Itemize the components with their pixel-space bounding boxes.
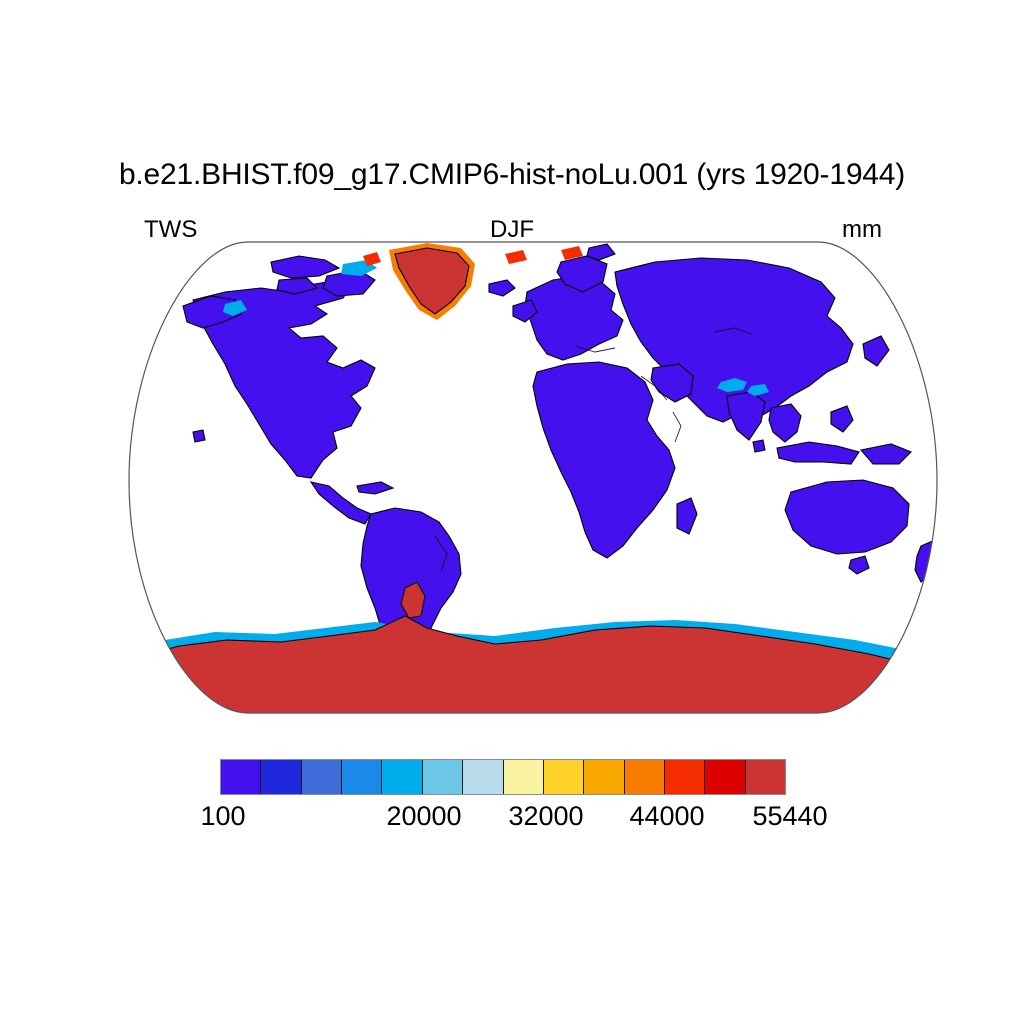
world-map-svg [75,236,955,726]
colorbar-cell-7[interactable] [463,760,503,794]
colorbar-tick-labels: 10020000320004400055440 [0,800,1006,840]
page-title: b.e21.BHIST.f09_g17.CMIP6-hist-noLu.001 … [0,158,1024,192]
colorbar-cell-5[interactable] [382,760,422,794]
colorbar-cell-6[interactable] [423,760,463,794]
colorbar-cell-13[interactable] [705,760,745,794]
climate-map-figure: b.e21.BHIST.f09_g17.CMIP6-hist-noLu.001 … [0,0,1024,1024]
colorbar-cell-4[interactable] [342,760,382,794]
colorbar-cell-3[interactable] [302,760,342,794]
colorbar-panel: 10020000320004400055440 [220,759,790,849]
colorbar-cell-2[interactable] [261,760,301,794]
colorbar[interactable] [220,759,786,795]
colorbar-tick-label-3: 44000 [629,800,704,832]
colorbar-cell-12[interactable] [665,760,705,794]
colorbar-tick-label-4: 55440 [752,800,827,832]
colorbar-cell-9[interactable] [544,760,584,794]
colorbar-cell-11[interactable] [625,760,665,794]
map-panel [75,236,955,726]
colorbar-cell-10[interactable] [584,760,624,794]
colorbar-tick-label-1: 20000 [386,800,461,832]
colorbar-tick-label-0: 100 [200,800,245,832]
land-hawaii [193,430,205,442]
colorbar-cell-8[interactable] [504,760,544,794]
land-sri-lanka [753,440,765,452]
colorbar-cell-1[interactable] [221,760,261,794]
colorbar-cell-14[interactable] [746,760,785,794]
colorbar-tick-label-2: 32000 [508,800,583,832]
